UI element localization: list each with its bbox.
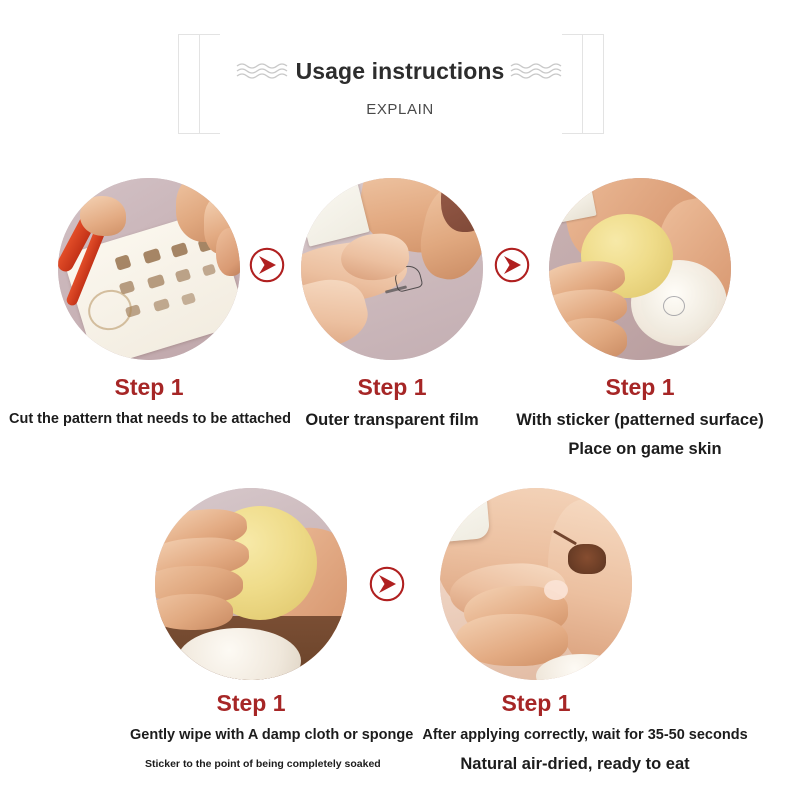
step-1-caption-1: Cut the pattern that needs to be attache… xyxy=(9,411,289,427)
step-5-caption-2: Natural air-dried, ready to eat xyxy=(410,755,740,774)
step-4-caption-2: Sticker to the point of being completely… xyxy=(145,758,365,770)
step-3-label: Step 1 xyxy=(549,374,731,401)
arrow-right-circle-icon xyxy=(248,246,286,284)
step-1-photo xyxy=(58,178,240,360)
step-3-image xyxy=(549,178,731,360)
step-2-caption-1: Outer transparent film xyxy=(297,411,487,430)
step-4-photo xyxy=(155,488,347,680)
step-5-label: Step 1 xyxy=(440,690,632,717)
step-5-photo xyxy=(440,488,632,680)
step-3-caption-2: Place on game skin xyxy=(520,440,770,459)
page-subtitle: EXPLAIN xyxy=(0,101,800,118)
step-4-label: Step 1 xyxy=(155,690,347,717)
applied-tattoo xyxy=(568,544,606,574)
step-2-image xyxy=(301,178,483,360)
step-1-image xyxy=(58,178,240,360)
step-5-image xyxy=(440,488,632,680)
step-4-image xyxy=(155,488,347,680)
step-4-caption-1: Gently wipe with A damp cloth or sponge xyxy=(130,727,380,743)
backing-paper xyxy=(440,488,490,542)
page-title: Usage instructions xyxy=(296,58,505,85)
step-5-caption-1: After applying correctly, wait for 35-50… xyxy=(375,727,795,743)
wavy-line-icon xyxy=(236,61,290,83)
page-header: Usage instructions EXPLAIN xyxy=(0,0,800,150)
step-2-label: Step 1 xyxy=(301,374,483,401)
wavy-line-icon xyxy=(510,61,564,83)
step-1-label: Step 1 xyxy=(58,374,240,401)
arrow-right-circle-icon xyxy=(368,565,406,603)
step-2-photo xyxy=(301,178,483,360)
title-row: Usage instructions xyxy=(0,58,800,85)
step-3-photo xyxy=(549,178,731,360)
step-3-caption-1: With sticker (patterned surface) xyxy=(490,411,790,430)
arrow-right-circle-icon xyxy=(493,246,531,284)
